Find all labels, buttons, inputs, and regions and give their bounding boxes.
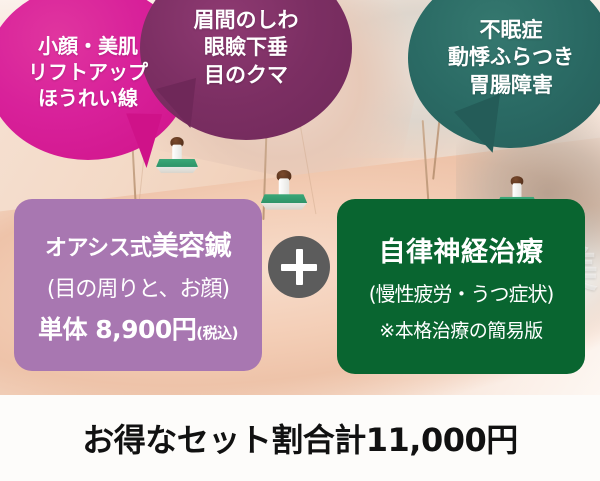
- moxibustion-cone: [156, 141, 198, 173]
- moxa-base: [261, 194, 307, 210]
- offer-title-main: 美容鍼: [152, 231, 232, 262]
- bubble-line: リフトアップ: [28, 59, 148, 85]
- offer-price-label: 単体: [38, 315, 87, 344]
- offer-title-prefix: オアシス式: [45, 236, 152, 261]
- offer-title: オアシス式美容鍼: [45, 224, 231, 263]
- bubble-line: 小顔・美肌: [28, 33, 148, 59]
- set-price-footer: お得なセット割合計11,000円: [0, 395, 600, 481]
- offer-card-autonomic-treatment[interactable]: 自律神経治療 (慢性疲労・うつ症状) ※本格治療の簡易版: [337, 199, 585, 374]
- offer-price-value: 8,900円: [95, 315, 196, 344]
- offer-subtitle: (慢性疲労・うつ症状): [369, 278, 554, 307]
- bubble-text-group: 不眠症 動悸ふらつき 胃腸障害: [448, 17, 574, 99]
- promo-banner: 美 小顔・美肌 リフトアップ ほうれい線 眉間のしわ 眼瞼下垂 目のクマ 不眠症…: [0, 0, 600, 481]
- plus-icon: [268, 236, 330, 298]
- offer-card-beauty-acupuncture[interactable]: オアシス式美容鍼 (目の周りと、お顔) 単体 8,900円(税込): [14, 199, 262, 371]
- bubble-line: 眼瞼下垂: [194, 34, 299, 61]
- plus-icon-vertical: [296, 249, 303, 285]
- bubble-line: 眉間のしわ: [194, 7, 299, 34]
- bubble-text-group: 小顔・美肌 リフトアップ ほうれい線: [28, 33, 148, 111]
- bubble-line: 目のクマ: [194, 62, 299, 89]
- bubble-text-group: 眉間のしわ 眼瞼下垂 目のクマ: [194, 7, 299, 89]
- bubble-line: 動悸ふらつき: [448, 44, 574, 71]
- offer-title: 自律神経治療: [379, 230, 544, 269]
- offer-price-row: 単体 8,900円(税込): [38, 310, 238, 346]
- moxibustion-cone: [261, 174, 307, 210]
- offer-note: ※本格治療の簡易版: [379, 316, 542, 343]
- bubble-line: 胃腸障害: [448, 72, 574, 99]
- set-price-text: お得なセット割合計11,000円: [82, 415, 518, 461]
- moxa-base: [156, 159, 198, 173]
- offer-subtitle: (目の周りと、お顔): [47, 271, 229, 303]
- offer-tax-note: (税込): [196, 324, 238, 342]
- bubble-line: ほうれい線: [28, 85, 148, 111]
- bubble-line: 不眠症: [448, 17, 574, 44]
